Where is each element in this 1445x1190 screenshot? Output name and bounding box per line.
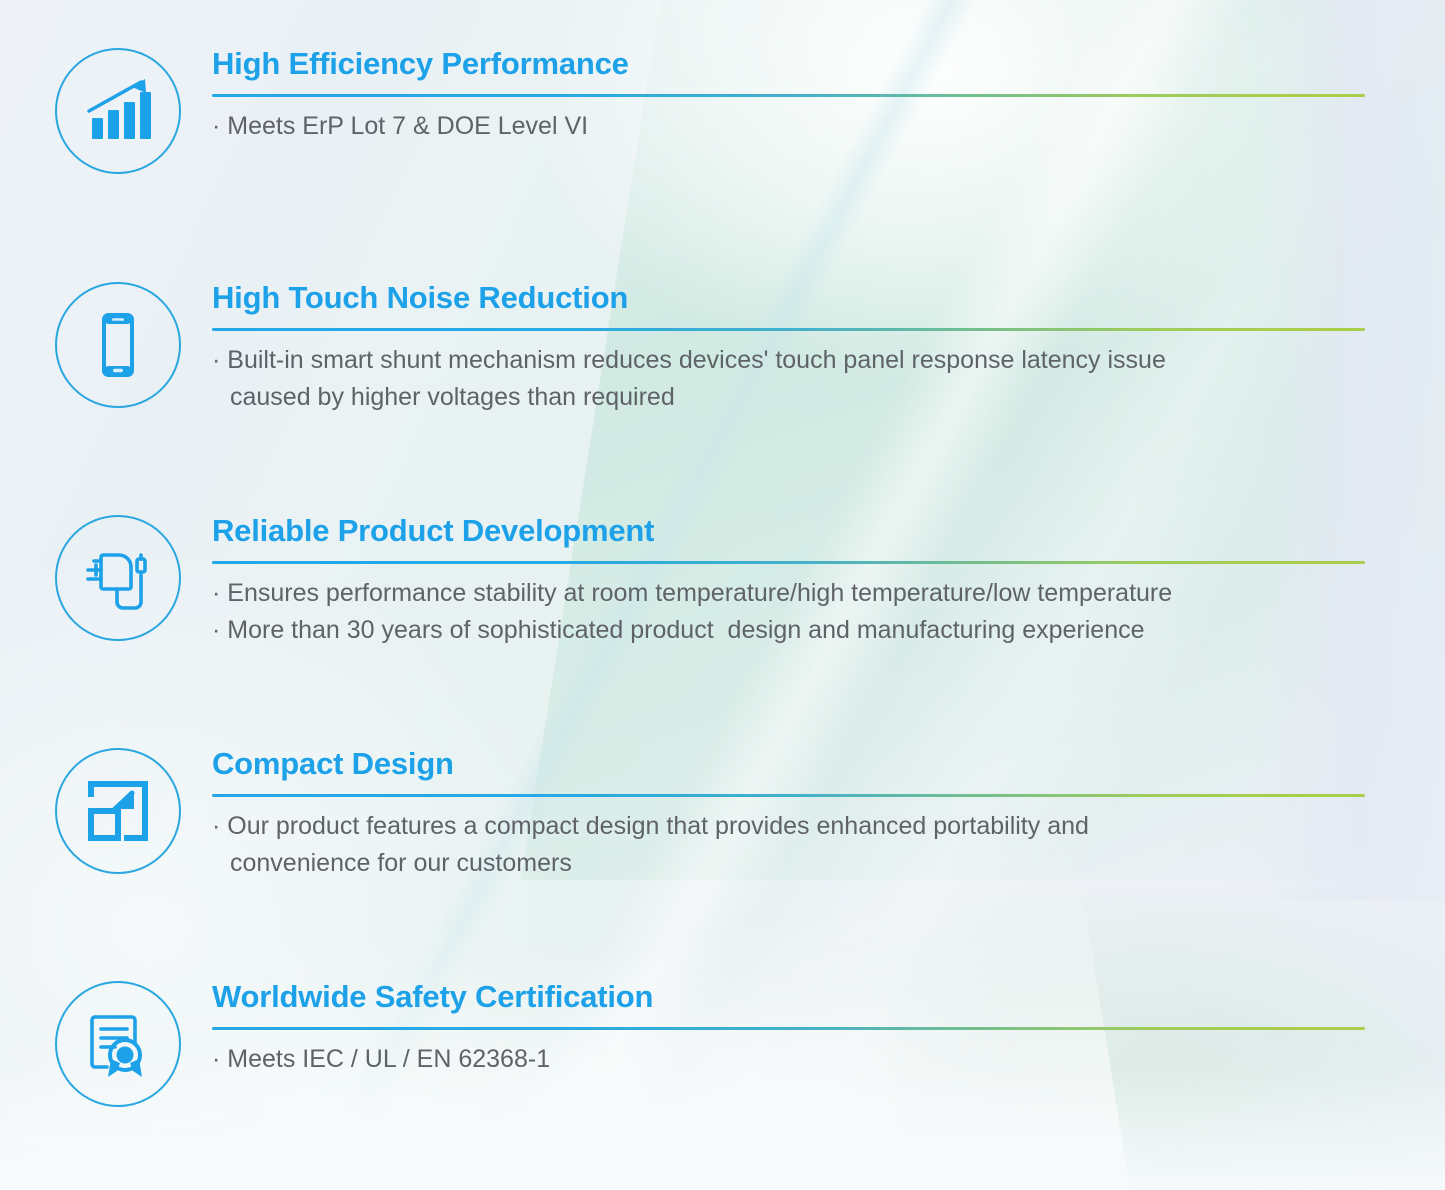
feature-icon-wrap bbox=[55, 48, 181, 174]
feature-highlights-page: High Efficiency Performance · Meets ErP … bbox=[0, 0, 1445, 1190]
compact-resize-icon bbox=[55, 748, 181, 874]
feature-divider bbox=[212, 794, 1365, 797]
feature-lines: · Ensures performance stability at room … bbox=[212, 575, 1367, 649]
feature-body: High Touch Noise Reduction · Built-in sm… bbox=[212, 282, 1367, 416]
feature-divider bbox=[212, 1027, 1365, 1030]
feature-lines: · Meets IEC / UL / EN 62368-1 bbox=[212, 1041, 1367, 1078]
feature-icon-wrap bbox=[55, 515, 181, 641]
feature-icon-wrap bbox=[55, 282, 181, 408]
feature-line: · More than 30 years of sophisticated pr… bbox=[212, 612, 1367, 649]
feature-line: · Meets ErP Lot 7 & DOE Level VI bbox=[212, 108, 1367, 145]
feature-icon-wrap bbox=[55, 981, 181, 1107]
feature-title: Worldwide Safety Certification bbox=[212, 981, 1367, 1014]
feature-line: caused by higher voltages than required bbox=[212, 379, 1367, 416]
feature-line: · Ensures performance stability at room … bbox=[212, 575, 1367, 612]
feature-line: · Built-in smart shunt mechanism reduces… bbox=[212, 342, 1367, 379]
feature-body: Reliable Product Development · Ensures p… bbox=[212, 515, 1367, 649]
feature-divider bbox=[212, 561, 1365, 564]
feature-lines: · Meets ErP Lot 7 & DOE Level VI bbox=[212, 108, 1367, 145]
feature-title: Reliable Product Development bbox=[212, 515, 1367, 548]
feature-lines: · Built-in smart shunt mechanism reduces… bbox=[212, 342, 1367, 416]
feature-divider bbox=[212, 94, 1365, 97]
bar-chart-growth-icon bbox=[55, 48, 181, 174]
feature-title: Compact Design bbox=[212, 748, 1367, 781]
feature-icon-wrap bbox=[55, 748, 181, 874]
feature-body: High Efficiency Performance · Meets ErP … bbox=[212, 48, 1367, 145]
feature-lines: · Our product features a compact design … bbox=[212, 808, 1367, 882]
feature-line: · Our product features a compact design … bbox=[212, 808, 1367, 845]
smartphone-icon bbox=[55, 282, 181, 408]
feature-title: High Efficiency Performance bbox=[212, 48, 1367, 81]
feature-divider bbox=[212, 328, 1365, 331]
certificate-award-icon bbox=[55, 981, 181, 1107]
power-adapter-icon bbox=[55, 515, 181, 641]
feature-body: Worldwide Safety Certification · Meets I… bbox=[212, 981, 1367, 1078]
feature-line: convenience for our customers bbox=[212, 845, 1367, 882]
feature-title: High Touch Noise Reduction bbox=[212, 282, 1367, 315]
feature-body: Compact Design · Our product features a … bbox=[212, 748, 1367, 882]
feature-line: · Meets IEC / UL / EN 62368-1 bbox=[212, 1041, 1367, 1078]
